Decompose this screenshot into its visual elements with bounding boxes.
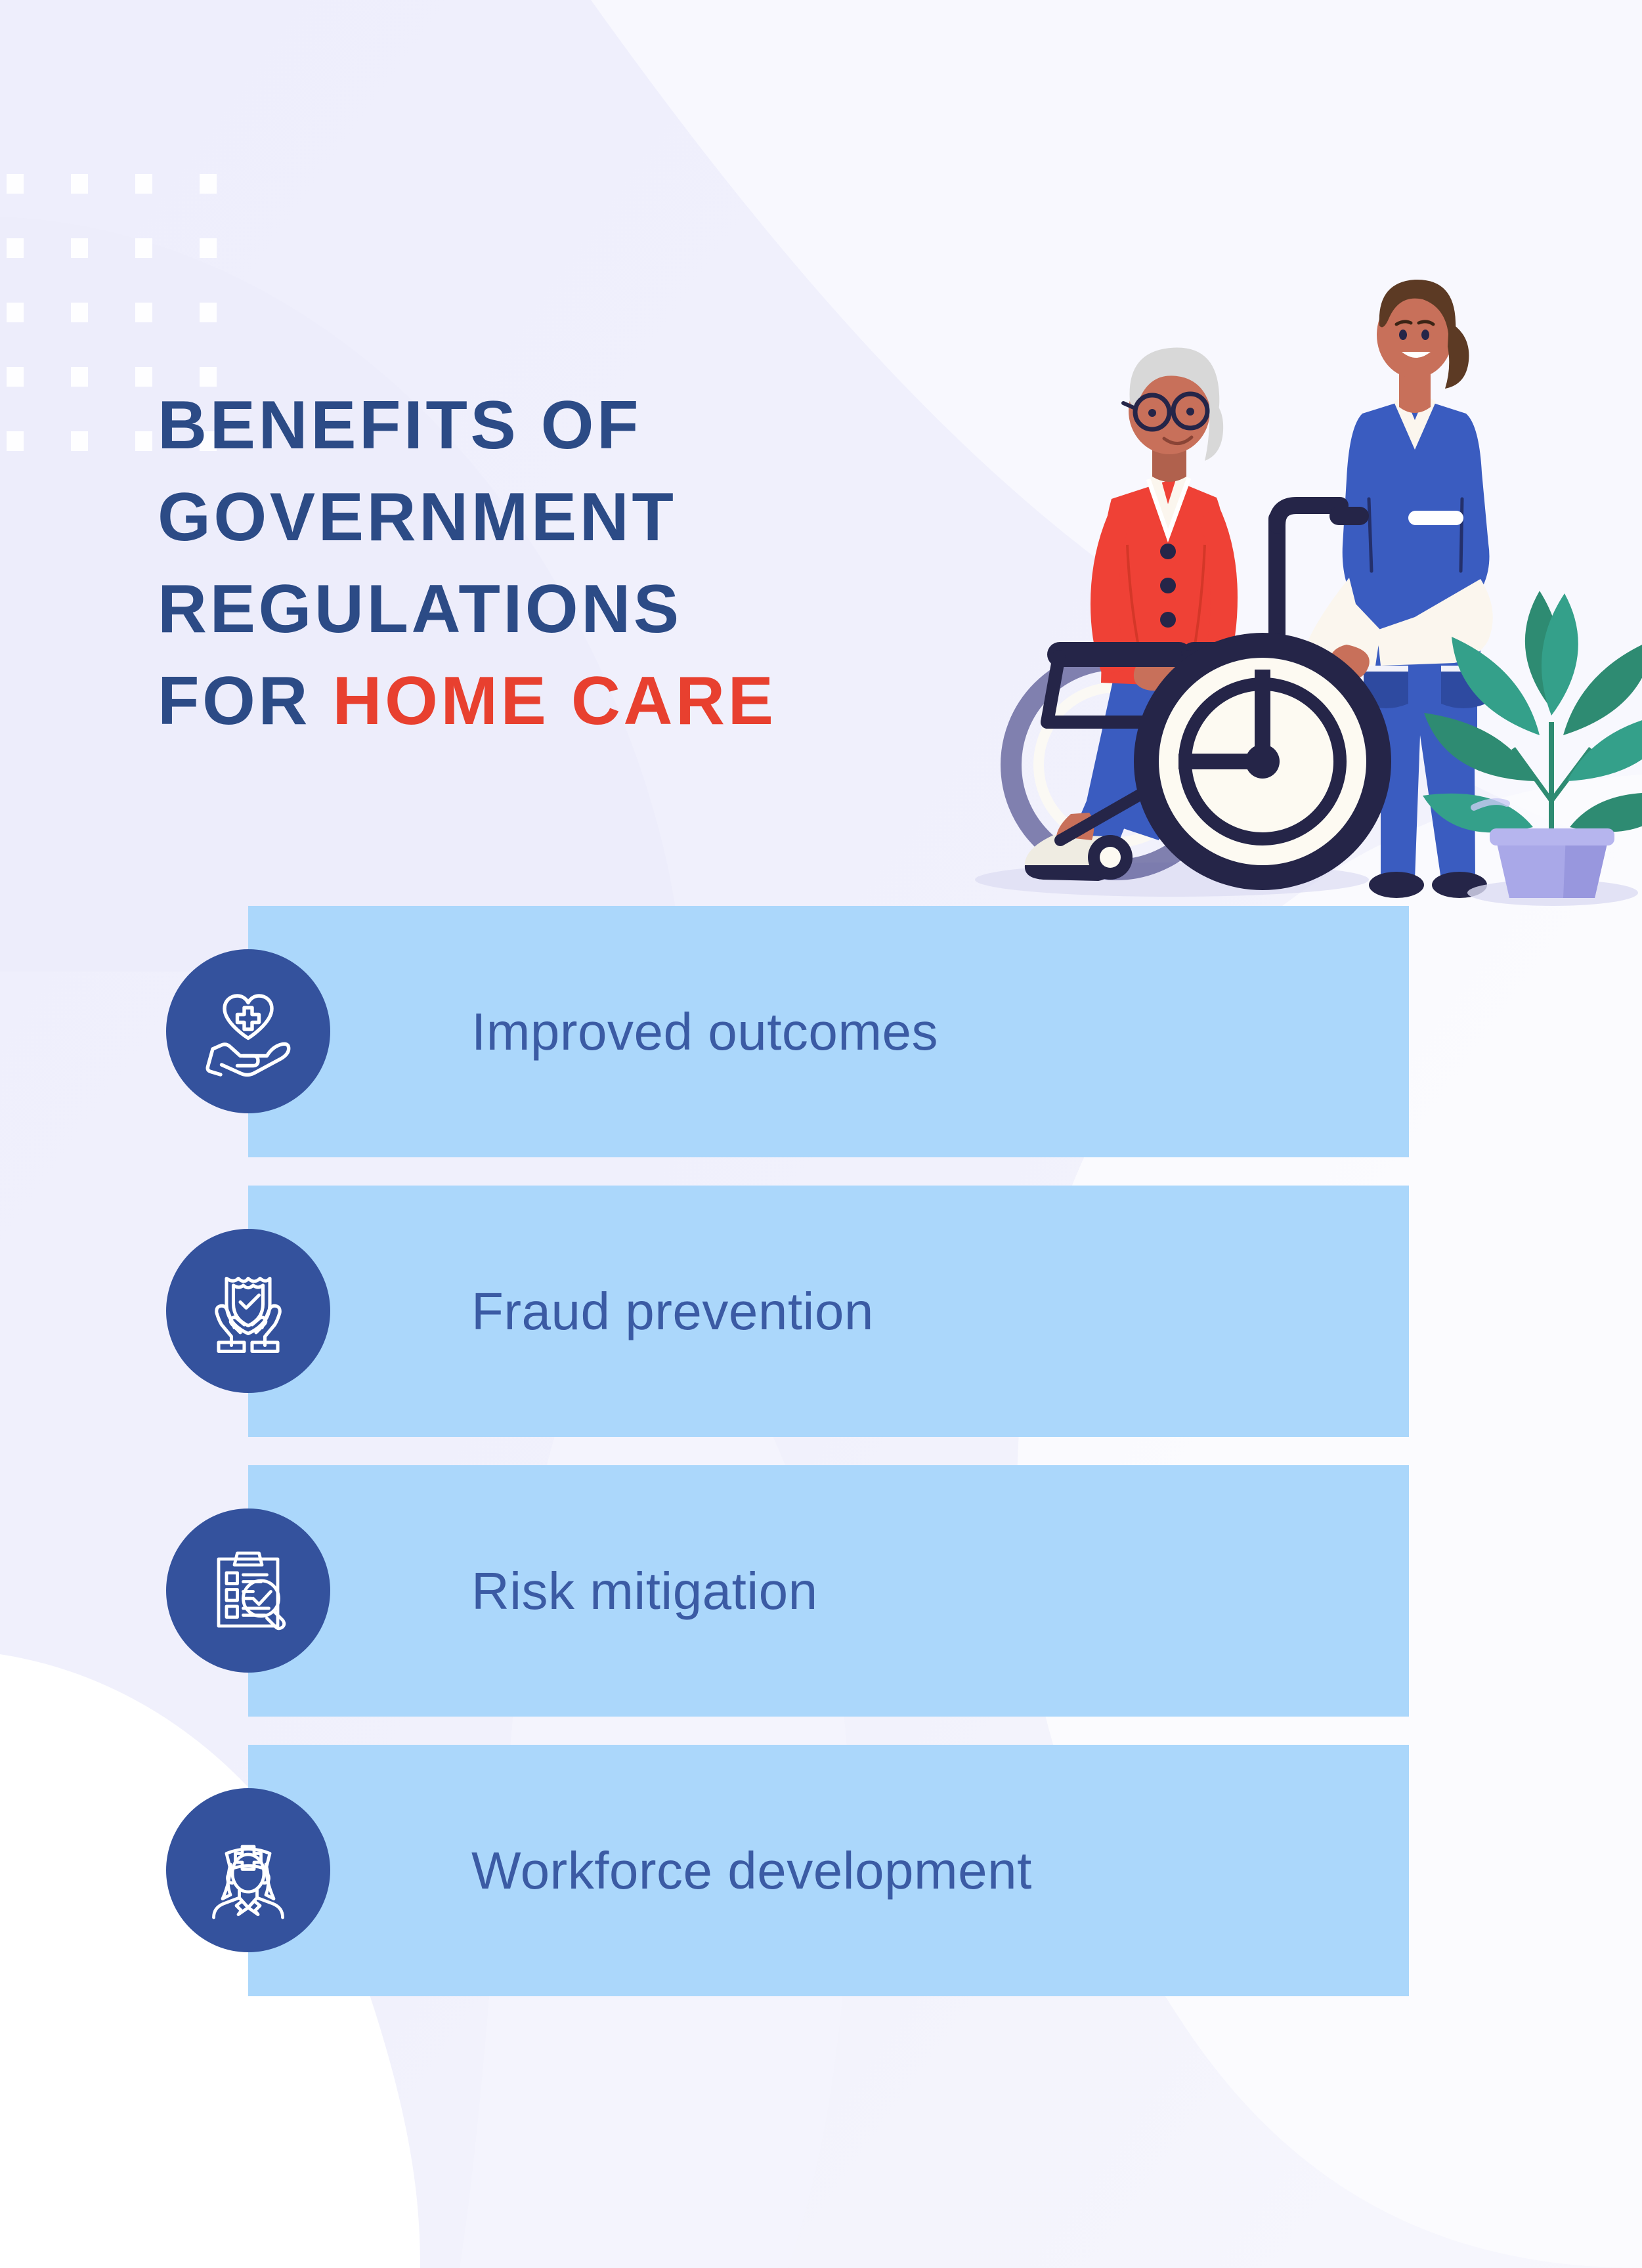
benefits-list: Improved outcomes Fraud prevention	[0, 906, 1642, 2024]
list-item[interactable]: Improved outcomes	[0, 906, 1642, 1157]
heart-cross-in-hand-icon	[166, 949, 330, 1113]
clipboard-checklist-magnifier-glyph	[199, 1541, 297, 1640]
infographic-poster: BENEFITS OF GOVERNMENT REGULATIONS FOR H…	[0, 0, 1642, 2268]
page-title: BENEFITS OF GOVERNMENT REGULATIONS FOR H…	[158, 379, 991, 747]
shield-check-in-hands-glyph	[199, 1262, 297, 1360]
heart-cross-in-hand-glyph	[199, 982, 297, 1081]
benefit-label: Risk mitigation	[471, 1465, 818, 1717]
benefit-label: Workforce development	[471, 1745, 1032, 1996]
title-line-4: FOR HOME CARE	[158, 655, 991, 747]
title-line-1: BENEFITS OF	[158, 379, 991, 471]
shield-check-in-hands-icon	[166, 1229, 330, 1393]
title-line-3: REGULATIONS	[158, 563, 991, 655]
nurse-icon	[166, 1788, 330, 1952]
caregiver-illustration	[955, 263, 1642, 919]
title-accent-home-care: HOME CARE	[332, 663, 776, 739]
title-line-2: GOVERNMENT	[158, 471, 991, 563]
title-line-4-prefix: FOR	[158, 663, 332, 739]
list-item[interactable]: Fraud prevention	[0, 1186, 1642, 1437]
list-item[interactable]: Risk mitigation	[0, 1465, 1642, 1717]
benefit-label: Improved outcomes	[471, 906, 938, 1157]
benefit-label: Fraud prevention	[471, 1186, 874, 1437]
caregiver-illustration-svg	[955, 263, 1642, 919]
benefit-bar	[248, 1465, 1409, 1717]
clipboard-checklist-magnifier-icon	[166, 1508, 330, 1673]
nurse-glyph	[199, 1821, 297, 1919]
list-item[interactable]: Workforce development	[0, 1745, 1642, 1996]
